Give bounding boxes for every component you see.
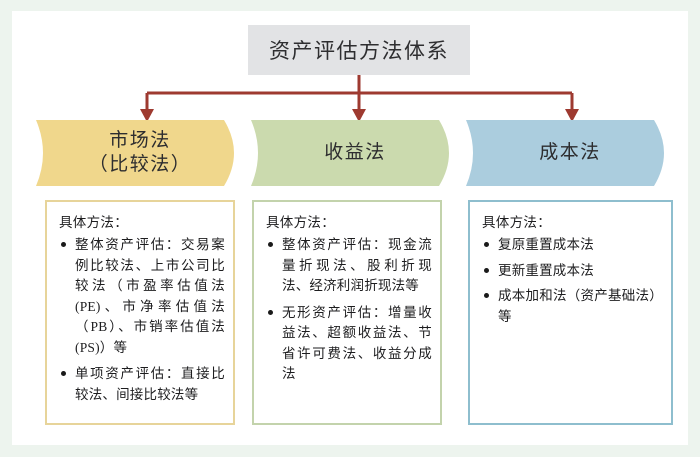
panel-cost-list: 复原重置成本法 更新重置成本法 成本加和法（资产基础法）等 xyxy=(480,235,663,327)
panel-income-list: 整体资产评估：现金流量折现法、股利折现法、经济利润折现法等 无形资产评估：增量收… xyxy=(264,235,432,385)
banner-cost-label: 成本法 xyxy=(539,141,601,165)
banner-market-line1: 市场法 xyxy=(89,129,192,153)
banner-income[interactable]: 收益法 xyxy=(251,120,459,186)
list-item: 整体资产评估：交易案例比较法、上市公司比较法（市盈率估值法(PE)、市净率估值法… xyxy=(57,235,225,358)
panel-market-heading: 具体方法： xyxy=(59,211,225,231)
list-item: 更新重置成本法 xyxy=(480,261,663,282)
banner-cost-line1: 成本法 xyxy=(539,141,601,165)
banner-income-line1: 收益法 xyxy=(324,141,386,165)
panel-market: 具体方法： 整体资产评估：交易案例比较法、上市公司比较法（市盈率估值法(PE)、… xyxy=(45,200,235,425)
diagram-canvas: 资产评估方法体系 市场法 （比较法） 收益法 xyxy=(0,0,700,457)
panel-cost-heading: 具体方法： xyxy=(482,211,663,231)
list-item: 成本加和法（资产基础法）等 xyxy=(480,286,663,327)
banner-market-line2: （比较法） xyxy=(89,153,192,177)
list-item: 整体资产评估：现金流量折现法、股利折现法、经济利润折现法等 xyxy=(264,235,432,297)
diagram-title-box: 资产评估方法体系 xyxy=(248,25,470,75)
banner-market-label: 市场法 （比较法） xyxy=(89,129,192,177)
list-item: 单项资产评估：直接比较法、间接比较法等 xyxy=(57,364,225,405)
panel-cost: 具体方法： 复原重置成本法 更新重置成本法 成本加和法（资产基础法）等 xyxy=(468,200,673,425)
list-item: 无形资产评估：增量收益法、超额收益法、节省许可费法、收益分成法 xyxy=(264,303,432,385)
banner-market[interactable]: 市场法 （比较法） xyxy=(36,120,244,186)
list-item: 复原重置成本法 xyxy=(480,235,663,256)
diagram-title-text: 资产评估方法体系 xyxy=(269,35,449,65)
panel-market-list: 整体资产评估：交易案例比较法、上市公司比较法（市盈率估值法(PE)、市净率估值法… xyxy=(57,235,225,405)
banner-income-label: 收益法 xyxy=(324,141,386,165)
banner-cost[interactable]: 成本法 xyxy=(466,120,674,186)
panel-income-heading: 具体方法： xyxy=(266,211,432,231)
panel-income: 具体方法： 整体资产评估：现金流量折现法、股利折现法、经济利润折现法等 无形资产… xyxy=(252,200,442,425)
